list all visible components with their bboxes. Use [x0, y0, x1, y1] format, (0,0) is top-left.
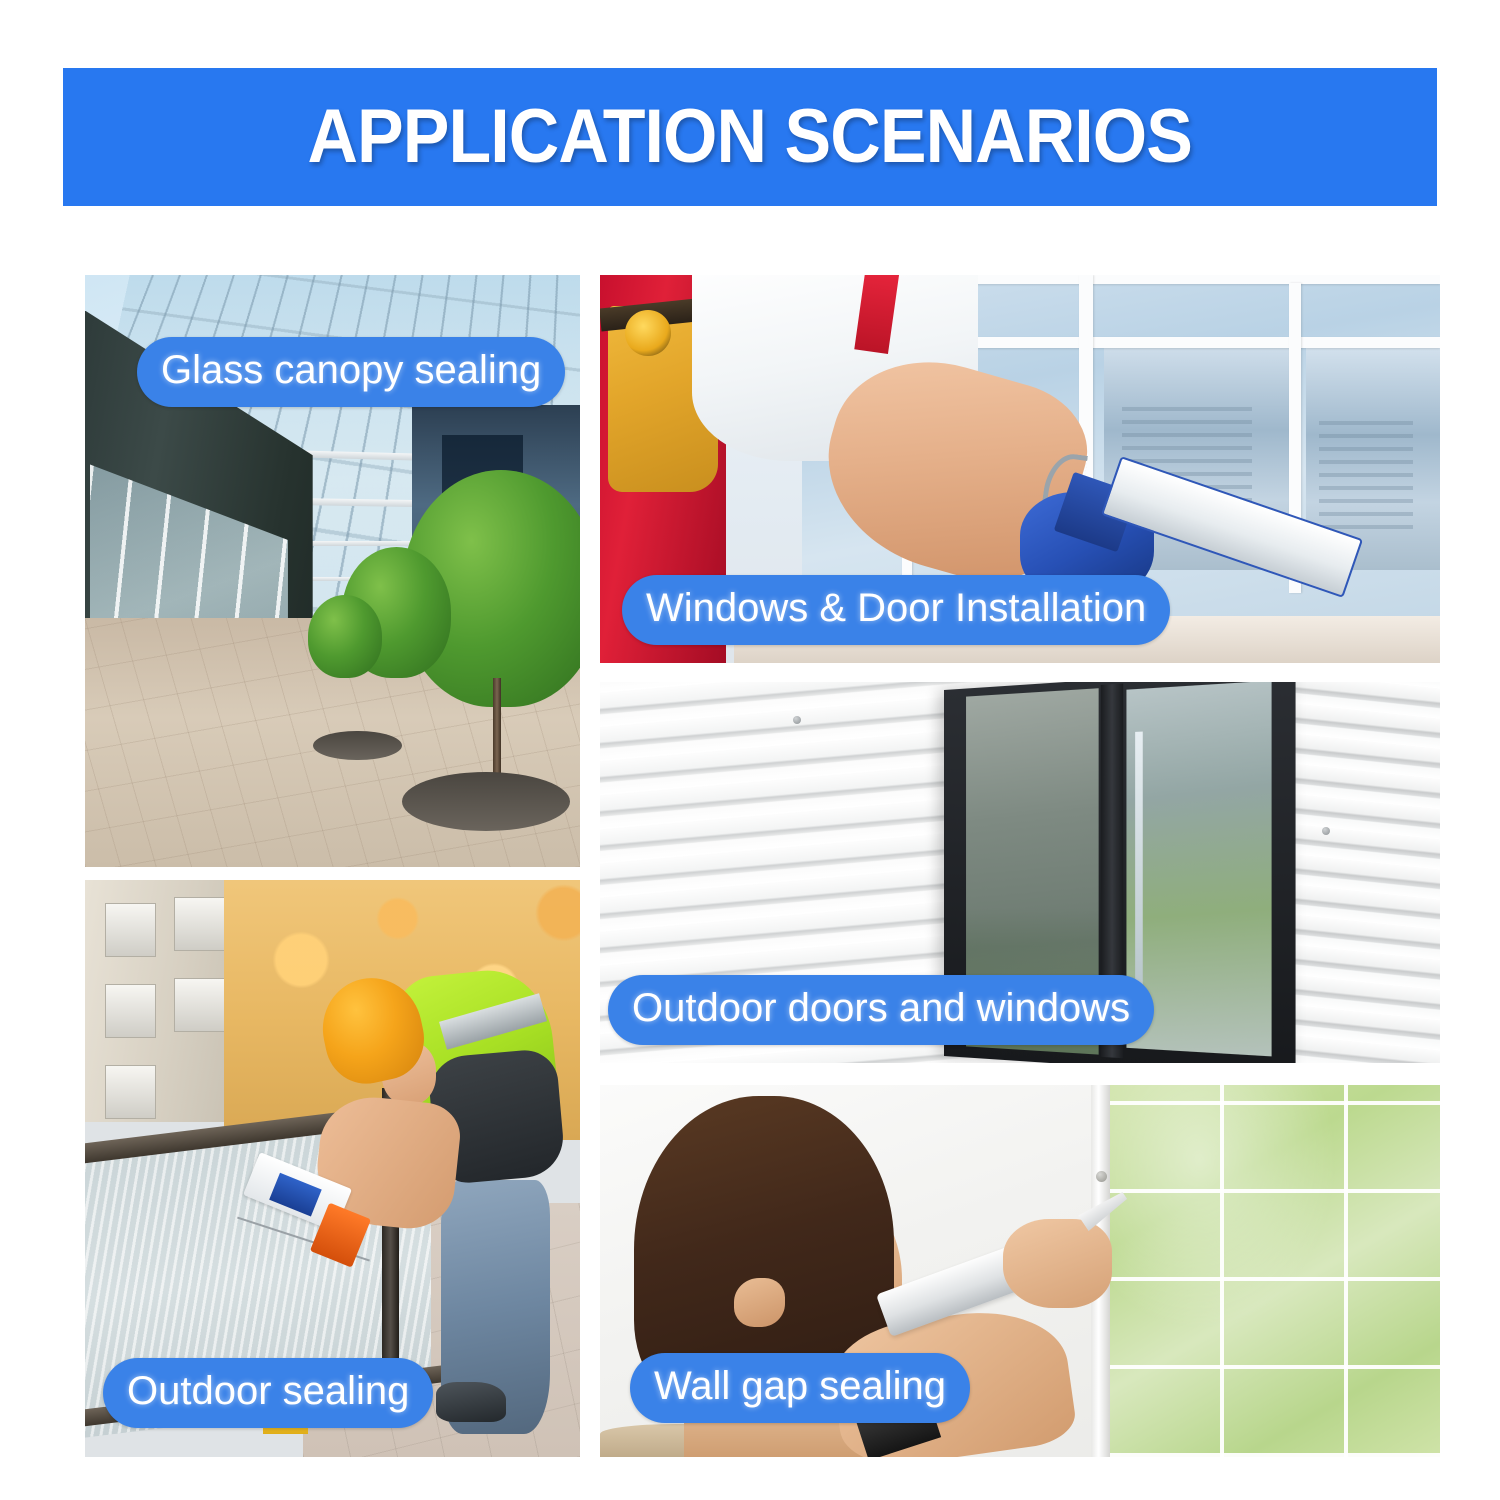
header-banner: APPLICATION SCENARIOS [63, 68, 1437, 206]
panel-glass-canopy[interactable]: Glass canopy sealing [85, 275, 580, 867]
tree [308, 595, 382, 678]
building-window [105, 903, 157, 957]
building-window [174, 897, 226, 951]
label-outdoor-sealing: Outdoor sealing [103, 1358, 433, 1428]
building-window [105, 984, 157, 1038]
siding-wall-right [1272, 682, 1440, 1063]
label-glass-canopy-sealing: Glass canopy sealing [137, 337, 565, 407]
label-wall-gap-sealing: Wall gap sealing [630, 1353, 970, 1423]
worker-ear [734, 1278, 784, 1326]
label-windows-door-installation: Windows & Door Installation [622, 575, 1170, 645]
label-outdoor-doors-windows: Outdoor doors and windows [608, 975, 1154, 1045]
building-window [174, 978, 226, 1032]
worker-hand [1003, 1219, 1112, 1308]
page-title: APPLICATION SCENARIOS [308, 99, 1193, 175]
trim-screw [1096, 1171, 1107, 1182]
panel-outdoor-sealing[interactable]: Outdoor sealing [85, 880, 580, 1457]
building-window [105, 1065, 157, 1119]
worker-boot [436, 1382, 505, 1422]
planter [313, 731, 402, 761]
panel-window-door-installation[interactable]: Windows & Door Installation [600, 275, 1440, 663]
panel-outdoor-doors-windows[interactable]: Outdoor doors and windows [600, 682, 1440, 1063]
panel-wall-gap-sealing[interactable]: Wall gap sealing [600, 1085, 1440, 1457]
green-tiles [1096, 1085, 1440, 1457]
